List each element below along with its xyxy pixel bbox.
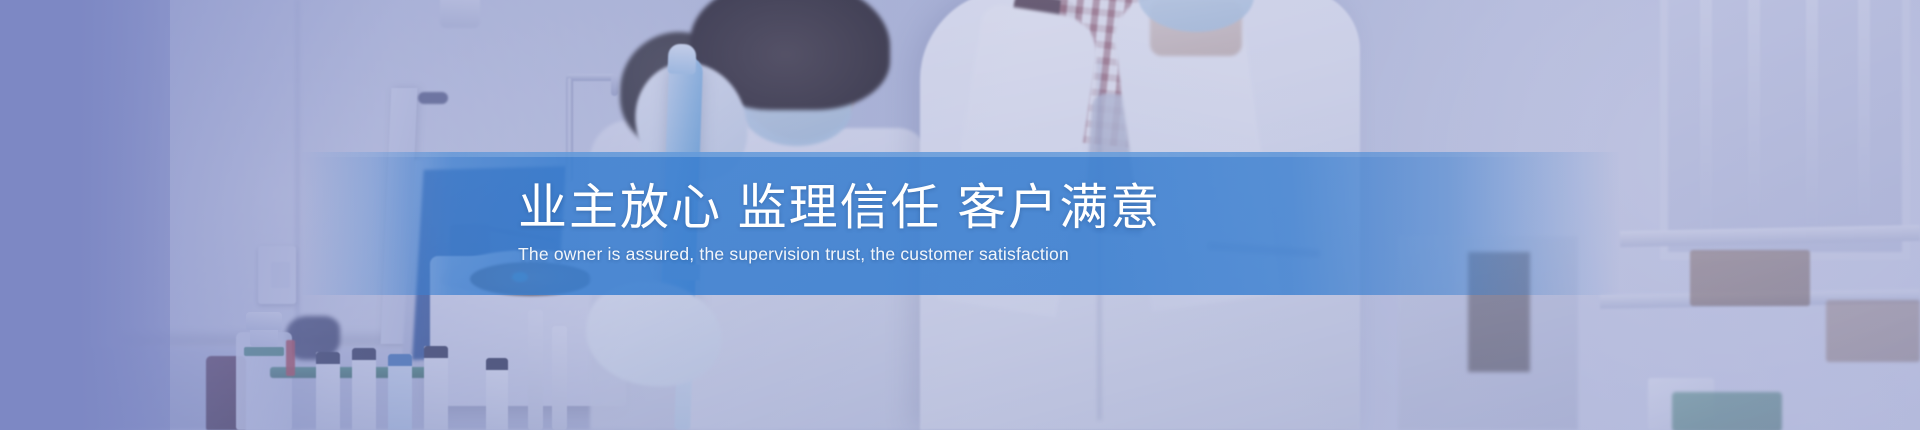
banner-text-group: 业主放心 监理信任 客户满意 The owner is assured, the… (0, 152, 1920, 295)
banner-subheadline: The owner is assured, the supervision tr… (518, 244, 1069, 265)
hero-banner: 业主放心 监理信任 客户满意 The owner is assured, the… (0, 0, 1920, 430)
banner-headline: 业主放心 监理信任 客户满意 (518, 182, 1161, 235)
